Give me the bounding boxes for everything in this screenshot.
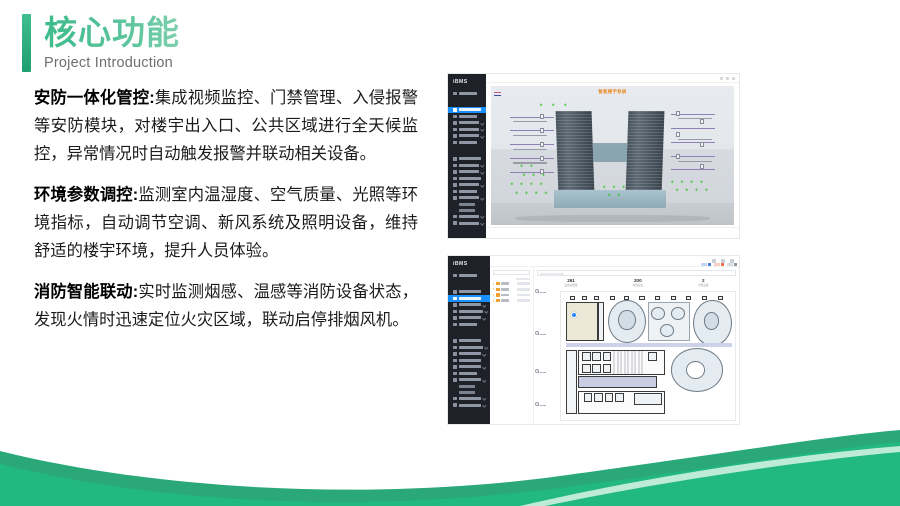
badge-box — [721, 263, 724, 266]
stat-label: 告警设备 — [698, 283, 708, 287]
feature-lead-fire: 消防智能联动: — [34, 283, 138, 301]
badge-box — [734, 263, 737, 266]
slide-title-block: 核心功能 Project Introduction — [22, 14, 180, 72]
folder-icon — [496, 299, 500, 302]
wave-back — [0, 430, 900, 506]
screenshot-building-system: iBMS — [447, 73, 740, 239]
tower-left — [555, 111, 594, 194]
page-subtitle: Project Introduction — [44, 55, 180, 72]
chevron-right-icon — [484, 345, 488, 349]
water-icon — [453, 359, 457, 363]
floorplan-content: 261 设备总数量 200 在线设备 2 告警设备 — [534, 267, 739, 424]
report-icon — [453, 196, 457, 200]
feature-list: 安防一体化管控:集成视频监控、门禁管理、入侵报警等安防模块，对楼宇出入口、公共区… — [34, 84, 418, 347]
gear-icon — [453, 397, 457, 401]
tree-row-name — [501, 299, 509, 302]
floorplan-tree-panel[interactable] — [490, 267, 534, 424]
chevron-right-icon — [480, 134, 484, 138]
badge-bar — [727, 263, 733, 266]
chart-icon — [453, 303, 457, 307]
floorplan-drawing-canvas[interactable] — [560, 291, 736, 421]
chevron-right-icon[interactable] — [493, 294, 494, 296]
status-legend — [701, 263, 737, 266]
floorplan-filter-input[interactable] — [537, 270, 736, 276]
bulb-icon — [453, 157, 457, 161]
building-bottombar — [486, 227, 739, 238]
chevron-right-icon[interactable] — [493, 300, 494, 302]
status-badge-normal — [701, 263, 711, 266]
fan-icon — [453, 346, 457, 350]
chevron-right-icon — [482, 303, 486, 307]
chart-icon — [453, 121, 457, 125]
building-main-area: 智能楼宇系统 — [486, 74, 739, 238]
tree-row-name — [501, 288, 509, 291]
tree-row-building-c[interactable] — [493, 293, 530, 296]
log-icon — [453, 221, 457, 225]
fp-sidebar-group-2 — [448, 328, 490, 338]
chevron-right-icon — [480, 163, 484, 167]
floorplan-logo: iBMS — [448, 256, 490, 267]
bell-icon — [453, 323, 457, 327]
screenshot-floor-plan: iBMS — [447, 255, 740, 425]
elevator-icon — [453, 170, 457, 174]
fan-icon — [453, 164, 457, 168]
tree-row-value — [517, 288, 530, 291]
chevron-right-icon — [480, 196, 484, 200]
chevron-right-icon — [480, 121, 484, 125]
fp-sidebar-group-1 — [448, 279, 490, 289]
chevron-right-icon — [480, 183, 484, 187]
chevron-right-icon[interactable] — [493, 288, 494, 290]
tree-column-header — [493, 278, 530, 280]
gear-icon — [453, 215, 457, 219]
device-icon — [453, 115, 457, 119]
tower-right — [626, 111, 665, 194]
building-topbar — [486, 74, 739, 83]
sidebar-group-label-2 — [448, 146, 486, 156]
feature-item-fire: 消防智能联动:实时监测烟感、温感等消防设备状态，发现火情时迅速定位火灾区域，联动… — [34, 278, 418, 334]
legend-entry-signal — [494, 95, 501, 96]
report-icon — [453, 378, 457, 382]
minimize-icon[interactable] — [720, 77, 723, 80]
feature-item-security: 安防一体化管控:集成视频监控、门禁管理、入侵报警等安防模块，对楼宇出入口、公共区… — [34, 84, 418, 168]
folder-icon — [496, 282, 500, 285]
stat-online-devices: 200 在线设备 — [633, 278, 643, 287]
stat-total-devices: 261 设备总数量 — [565, 278, 578, 287]
bulb-icon — [453, 339, 457, 343]
status-badge-alarm — [714, 263, 724, 266]
tree-row-name — [501, 282, 509, 285]
chevron-right-icon — [482, 316, 486, 320]
sidebar-item-logs[interactable] — [448, 220, 486, 227]
folder-icon — [496, 288, 500, 291]
fp-sidebar-item-home[interactable] — [448, 272, 490, 279]
title-text-group: 核心功能 Project Introduction — [44, 14, 180, 72]
legend-swatch-signal — [494, 95, 501, 96]
chevron-right-icon — [484, 309, 488, 313]
status-badge-offline — [727, 263, 737, 266]
feature-item-environment: 环境参数调控:监测室内温湿度、空气质量、光照等环境指标，自动调节空调、新风系统及… — [34, 181, 418, 265]
tree-row-value — [517, 282, 530, 285]
tree-row-value — [517, 299, 530, 302]
water-icon — [453, 177, 457, 181]
sidebar-item-home[interactable] — [448, 90, 486, 97]
wave-highlight — [520, 446, 900, 506]
fp-sidebar-item-alarm[interactable] — [448, 321, 490, 328]
tree-row-value — [517, 294, 530, 297]
wave-front — [0, 442, 900, 506]
fire-icon — [453, 365, 457, 369]
chevron-right-icon — [480, 170, 484, 174]
maximize-icon[interactable] — [726, 77, 729, 80]
building-logo: iBMS — [448, 74, 486, 85]
tree-row-building-a[interactable] — [493, 282, 530, 285]
chevron-right-icon — [482, 352, 486, 356]
chevron-right-icon — [480, 215, 484, 219]
podium-block — [554, 190, 666, 208]
stat-label: 在线设备 — [633, 283, 643, 287]
page-title: 核心功能 — [44, 14, 180, 52]
stat-label: 设备总数量 — [565, 283, 578, 287]
building-sidebar[interactable]: iBMS — [448, 74, 486, 238]
feature-lead-security: 安防一体化管控: — [34, 89, 155, 107]
chevron-right-icon — [482, 365, 486, 369]
fp-sidebar-item-logs[interactable] — [448, 402, 490, 409]
camera-icon — [453, 316, 457, 320]
home-icon — [453, 92, 457, 96]
badge-bar — [701, 263, 707, 266]
folder-icon — [496, 293, 500, 296]
elevator-icon — [453, 352, 457, 356]
sidebar-group-label-1 — [448, 97, 486, 107]
floorplan-stats: 261 设备总数量 200 在线设备 2 告警设备 — [537, 278, 736, 287]
home-icon — [453, 274, 457, 278]
dashboard-icon — [453, 108, 457, 112]
building-3d-canvas[interactable]: 智能楼宇系统 — [491, 86, 734, 225]
power-icon — [453, 372, 457, 376]
bell-icon — [453, 141, 457, 145]
badge-bar — [714, 263, 720, 266]
tree-search-input[interactable] — [493, 270, 530, 275]
camera-icon — [453, 134, 457, 138]
floorplan-main-area: 261 设备总数量 200 在线设备 2 告警设备 — [490, 256, 739, 424]
sky-bridge — [593, 143, 627, 162]
fire-icon — [453, 183, 457, 187]
title-accent-bar — [22, 14, 31, 72]
chevron-right-icon — [480, 127, 484, 131]
dashboard-icon — [453, 290, 457, 294]
map-icon — [453, 297, 457, 301]
canvas-legend — [494, 92, 501, 97]
badge-box — [708, 263, 711, 266]
chevron-right-icon — [482, 378, 486, 382]
chevron-right-icon — [482, 403, 486, 407]
sidebar-item-alarm[interactable] — [448, 139, 486, 146]
building-topbar-actions[interactable] — [720, 77, 735, 80]
chevron-right-icon — [482, 397, 486, 401]
door-icon — [453, 128, 457, 132]
tree-row-name — [501, 294, 509, 297]
tree-row-building-d[interactable] — [493, 299, 530, 302]
canvas-caption: 智能楼宇系统 — [598, 89, 626, 95]
road-shape — [515, 215, 709, 222]
legend-entry-power — [494, 92, 501, 93]
stat-alarm-devices: 2 告警设备 — [698, 278, 708, 287]
floorplan-axis-markers — [536, 271, 546, 420]
chevron-right-icon — [480, 221, 484, 225]
feature-lead-environment: 环境参数调控: — [34, 186, 138, 204]
chevron-right-icon[interactable] — [493, 283, 494, 285]
tree-row-building-b[interactable] — [493, 288, 530, 291]
floorplan-sidebar[interactable]: iBMS — [448, 256, 490, 424]
power-icon — [453, 190, 457, 194]
legend-swatch-power — [494, 92, 501, 93]
door-icon — [453, 310, 457, 314]
log-icon — [453, 403, 457, 407]
user-avatar-icon[interactable] — [732, 77, 735, 80]
